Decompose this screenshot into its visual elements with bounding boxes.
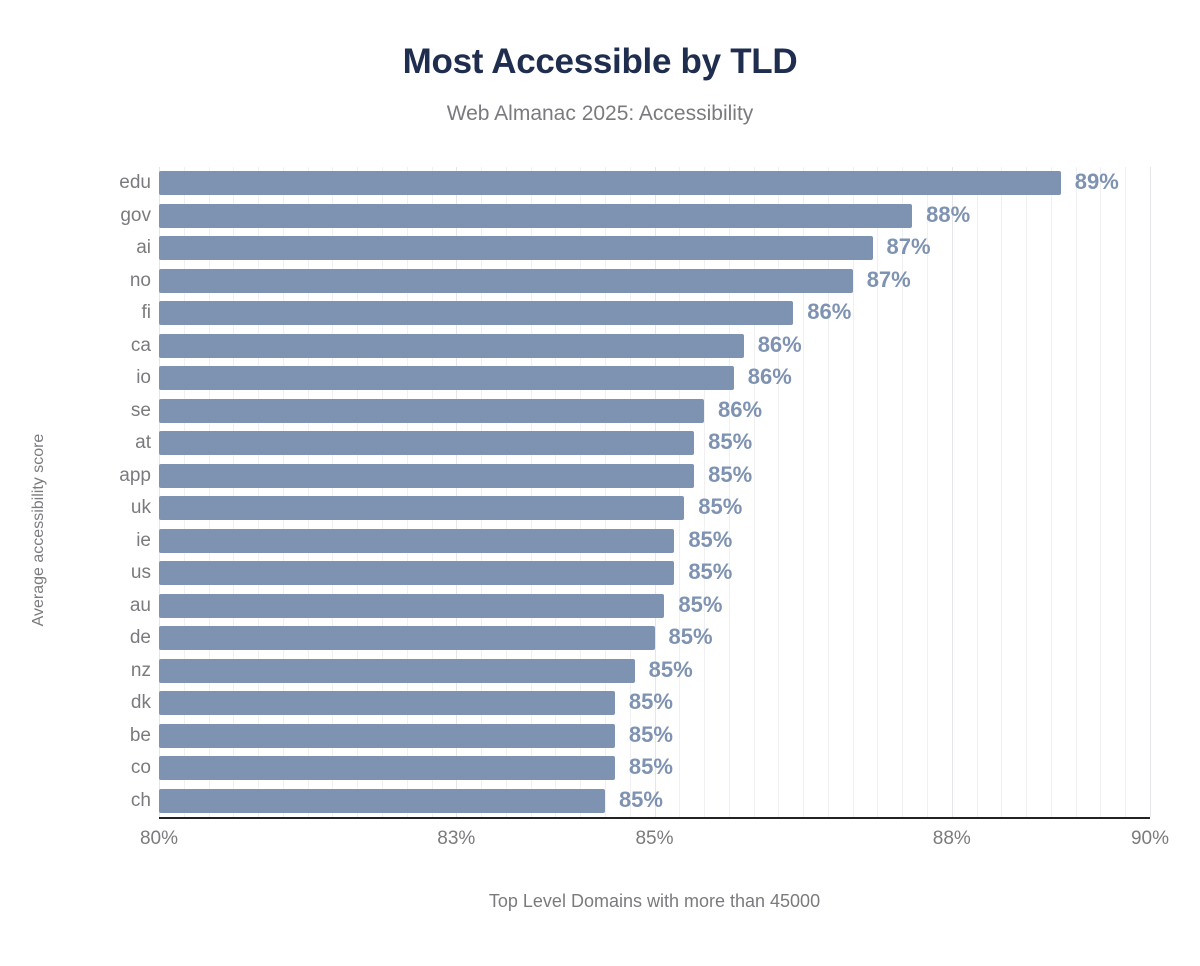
bar-value-label: 85% [629,720,673,753]
y-axis-tick-label-co: co [5,752,151,785]
y-axis-tick-label-be: be [5,720,151,753]
bar-row[interactable]: 86% [159,362,1150,395]
y-axis-tick-label-app: app [5,460,151,493]
y-axis-tick-label-gov: gov [5,200,151,233]
x-axis-tick-label-83: 83% [396,828,516,850]
bar[interactable] [159,659,635,683]
bar[interactable] [159,626,655,650]
bar[interactable] [159,561,674,585]
y-axis-tick-label-ch: ch [5,785,151,818]
bar[interactable] [159,529,674,553]
bar-value-label: 86% [748,362,792,395]
bar-row[interactable]: 86% [159,395,1150,428]
bar-value-label: 88% [926,200,970,233]
bar-row[interactable]: 85% [159,492,1150,525]
chart-title: Most Accessible by TLD [0,42,1200,82]
bar-value-label: 86% [758,330,802,363]
chart-subtitle: Web Almanac 2025: Accessibility [0,102,1200,126]
bar[interactable] [159,236,873,260]
bar-value-label: 85% [619,785,663,818]
y-axis-tick-label-nz: nz [5,655,151,688]
bar-row[interactable]: 86% [159,330,1150,363]
bar[interactable] [159,399,704,423]
plot-area: 89%88%87%87%86%86%86%86%85%85%85%85%85%8… [159,167,1150,817]
bar-value-label: 86% [718,395,762,428]
bar[interactable] [159,301,793,325]
bar[interactable] [159,691,615,715]
bar[interactable] [159,366,734,390]
y-axis-tick-label-io: io [5,362,151,395]
y-axis-tick-label-at: at [5,427,151,460]
bar-value-label: 85% [678,590,722,623]
y-axis-tick-label-fi: fi [5,297,151,330]
bar-value-label: 89% [1075,167,1119,200]
y-axis-tick-label-ca: ca [5,330,151,363]
bar-value-label: 85% [649,655,693,688]
bar-row[interactable]: 85% [159,590,1150,623]
y-axis-tick-label-dk: dk [5,687,151,720]
y-axis-tick-label-no: no [5,265,151,298]
bar-row[interactable]: 88% [159,200,1150,233]
y-axis-tick-label-au: au [5,590,151,623]
bar-value-label: 85% [698,492,742,525]
bar[interactable] [159,594,664,618]
x-axis-tick-label-90: 90% [1090,828,1200,850]
bar-value-label: 87% [867,265,911,298]
bar-row[interactable]: 85% [159,720,1150,753]
bar[interactable] [159,269,853,293]
bar-row[interactable]: 85% [159,752,1150,785]
bar-row[interactable]: 85% [159,687,1150,720]
y-axis-tick-label-se: se [5,395,151,428]
bar[interactable] [159,464,694,488]
bar[interactable] [159,496,684,520]
y-axis-tick-label-ai: ai [5,232,151,265]
bar-value-label: 85% [669,622,713,655]
bar-value-label: 85% [708,460,752,493]
gridline-major [1150,167,1151,817]
y-axis-tick-label-uk: uk [5,492,151,525]
bar-value-label: 85% [708,427,752,460]
bar-value-label: 85% [629,752,673,785]
bar-row[interactable]: 86% [159,297,1150,330]
bar[interactable] [159,334,744,358]
bar[interactable] [159,756,615,780]
x-axis-tick-label-88: 88% [892,828,1012,850]
bar-row[interactable]: 85% [159,785,1150,818]
y-axis-tick-label-edu: edu [5,167,151,200]
x-axis-tick-labels: 80%83%85%88%90% [0,828,1200,858]
bar-row[interactable]: 87% [159,265,1150,298]
bar[interactable] [159,431,694,455]
bar[interactable] [159,204,912,228]
bar-row[interactable]: 85% [159,622,1150,655]
x-axis-tick-label-85: 85% [595,828,715,850]
bar-row[interactable]: 85% [159,460,1150,493]
bar[interactable] [159,789,605,813]
x-axis-title: Top Level Domains with more than 45000 [159,891,1150,912]
bar[interactable] [159,171,1061,195]
bar[interactable] [159,724,615,748]
x-axis-tick-label-80: 80% [99,828,219,850]
bar-row[interactable]: 87% [159,232,1150,265]
y-axis-tick-label-de: de [5,622,151,655]
y-axis-tick-labels: edugovainoficaioseatappukieusaudenzdkbec… [5,167,151,817]
bar-value-label: 86% [807,297,851,330]
bar-row[interactable]: 89% [159,167,1150,200]
bar-value-label: 85% [688,557,732,590]
chart-container: Most Accessible by TLD Web Almanac 2025:… [0,0,1200,966]
x-axis-line [159,817,1150,819]
y-axis-tick-label-us: us [5,557,151,590]
bar-value-label: 85% [688,525,732,558]
bar-row[interactable]: 85% [159,655,1150,688]
bar-row[interactable]: 85% [159,525,1150,558]
bar-value-label: 85% [629,687,673,720]
bar-value-label: 87% [887,232,931,265]
bar-row[interactable]: 85% [159,557,1150,590]
bar-row[interactable]: 85% [159,427,1150,460]
y-axis-tick-label-ie: ie [5,525,151,558]
